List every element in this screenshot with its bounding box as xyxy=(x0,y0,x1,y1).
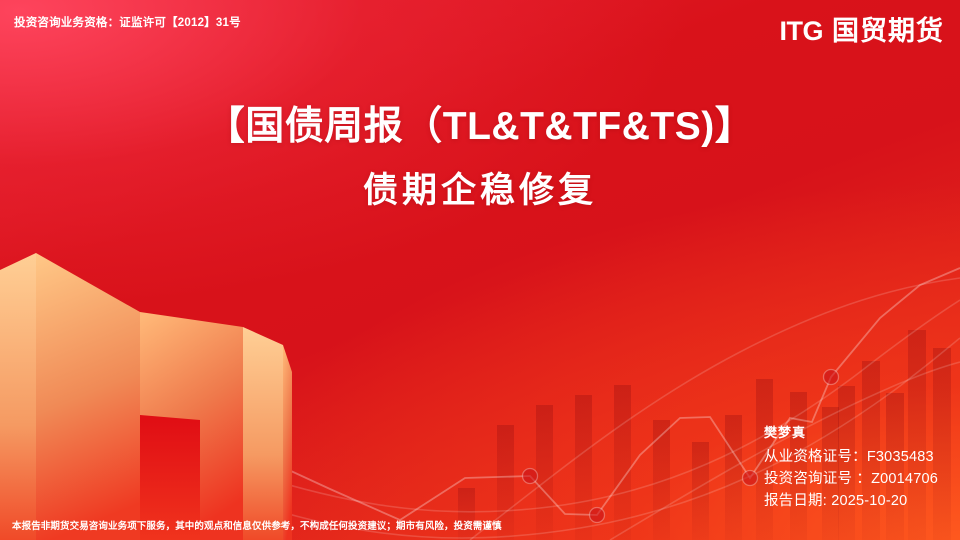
report-subtitle: 债期企稳修复 xyxy=(0,170,960,212)
author-name: 樊梦真 xyxy=(764,422,938,441)
disclaimer-text: 本报告非期货交易咨询业务项下服务，其中的观点和信息仅供参考，不构成任何投资建议；… xyxy=(12,518,502,532)
company-logo: ITG 国贸期货 xyxy=(780,18,945,45)
title-block: 【国债周报（TL&T&TF&TS)】 债期企稳修复 xyxy=(0,104,960,212)
practitioner-certificate: 从业资格证号：F3035483 xyxy=(764,446,938,468)
advisory-certificate: 投资咨询证号 ：Z0014706 xyxy=(764,468,938,490)
deco-line-marker xyxy=(590,508,605,523)
deco-line-marker xyxy=(824,370,839,385)
deco-line-marker xyxy=(743,471,758,486)
author-info-block: 樊梦真 从业资格证号：F3035483 投资咨询证号 ：Z0014706 报告日… xyxy=(764,422,938,512)
deco-line-marker xyxy=(523,469,538,484)
architecture-graphic xyxy=(0,240,330,540)
qualification-notice: 投资咨询业务资格：证监许可【2012】31号 xyxy=(14,14,241,30)
report-date: 报告日期: 2025-10-20 xyxy=(764,490,938,512)
logo-mark-itg: ITG xyxy=(780,18,824,45)
report-title: 【国债周报（TL&T&TF&TS)】 xyxy=(0,104,960,150)
logo-company-name: 国贸期货 xyxy=(832,18,944,45)
report-cover-slide: 投资咨询业务资格：证监许可【2012】31号 ITG 国贸期货 【国债周报（TL… xyxy=(0,0,960,540)
